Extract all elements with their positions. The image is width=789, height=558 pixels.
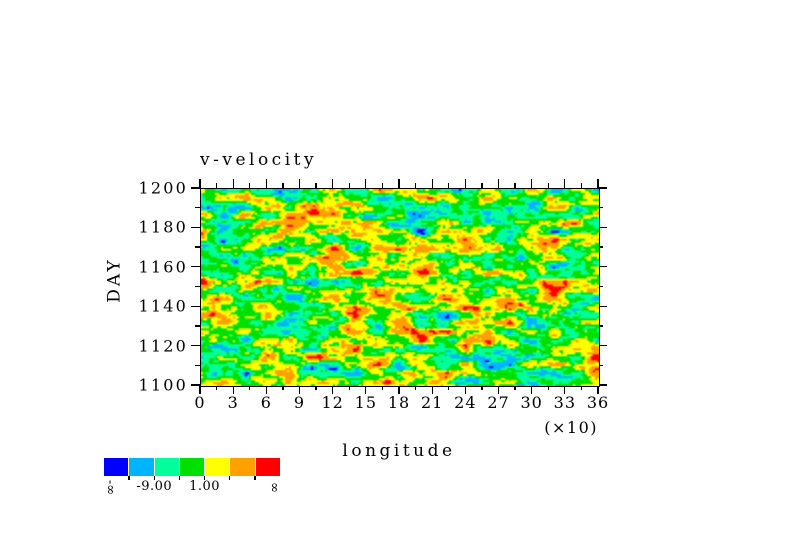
- y-tick-minor: [195, 246, 200, 247]
- colorbar-label-max: ∞: [267, 482, 282, 493]
- x-tick-minor: [349, 183, 350, 188]
- x-tick-minor: [448, 386, 449, 390]
- x-tick-minor: [249, 183, 250, 188]
- heatmap-plot-area: [200, 188, 600, 387]
- y-tick-minor: [195, 207, 200, 208]
- colorbar-label-min: -∞: [103, 480, 118, 495]
- x-tick-major: [398, 179, 399, 188]
- y-tick-minor: [195, 286, 200, 287]
- x-tick-minor: [481, 386, 482, 390]
- x-tick-label: 18: [388, 393, 410, 412]
- x-tick-label: 15: [355, 393, 377, 412]
- x-tick-minor: [514, 386, 515, 390]
- x-tick-label: 3: [228, 393, 239, 412]
- colorbar-band-0: [104, 458, 129, 476]
- x-tick-minor: [581, 386, 582, 390]
- x-tick-major: [365, 179, 366, 188]
- x-tick-major: [465, 179, 466, 188]
- y-tick-label: 1200: [138, 179, 188, 198]
- y-tick-major: [191, 306, 200, 307]
- x-tick-minor: [448, 183, 449, 188]
- x-tick-label: 33: [554, 393, 576, 412]
- x-tick-major: [531, 179, 532, 188]
- colorbar-label-value: 1.00: [189, 479, 220, 494]
- x-tick-label: 30: [520, 393, 542, 412]
- x-tick-minor: [382, 386, 383, 390]
- x-tick-label: 0: [194, 393, 205, 412]
- x-tick-major: [498, 179, 499, 188]
- x-axis-multiplier-label: (×10): [410, 418, 598, 437]
- x-tick-minor: [415, 386, 416, 390]
- y-tick-major: [191, 384, 200, 385]
- x-tick-minor: [548, 386, 549, 390]
- colorbar: [104, 458, 280, 476]
- colorbar-band-1: [129, 458, 154, 476]
- x-tick-label: 12: [321, 393, 343, 412]
- x-tick-label: 6: [261, 393, 272, 412]
- x-tick-major: [233, 179, 234, 188]
- x-tick-minor: [315, 183, 316, 188]
- y-tick-major: [191, 187, 200, 188]
- y-tick-major: [191, 345, 200, 346]
- y-tick-label: 1140: [138, 297, 188, 316]
- colorbar-label-value: -9.00: [136, 479, 172, 494]
- y-tick-major: [191, 227, 200, 228]
- colorbar-tick: [128, 476, 129, 480]
- colorbar-band-3: [180, 458, 205, 476]
- x-tick-minor: [282, 183, 283, 188]
- y-tick-major: [599, 266, 607, 267]
- x-tick-label: 21: [421, 393, 443, 412]
- x-tick-minor: [581, 183, 582, 188]
- y-tick-minor: [599, 365, 603, 366]
- x-tick-minor: [249, 386, 250, 390]
- y-tick-label: 1120: [138, 336, 188, 355]
- x-tick-label: 24: [454, 393, 476, 412]
- y-tick-label: 1100: [138, 376, 188, 395]
- x-tick-minor: [514, 183, 515, 188]
- y-tick-minor: [599, 207, 603, 208]
- y-tick-label: 1180: [138, 218, 188, 237]
- y-tick-major: [599, 227, 607, 228]
- x-tick-major: [299, 179, 300, 188]
- colorbar-bands: [104, 458, 280, 476]
- colorbar-band-2: [155, 458, 180, 476]
- y-tick-label: 1160: [138, 257, 188, 276]
- y-axis-title: DAY: [105, 257, 125, 302]
- x-tick-minor: [415, 183, 416, 188]
- x-tick-label: 36: [587, 393, 609, 412]
- y-tick-major: [599, 187, 607, 188]
- colorbar-band-5: [230, 458, 255, 476]
- heatmap-canvas: [201, 189, 599, 386]
- y-tick-major: [599, 306, 607, 307]
- y-tick-minor: [195, 325, 200, 326]
- y-tick-major: [191, 266, 200, 267]
- colorbar-band-6: [256, 458, 280, 476]
- y-tick-major: [599, 384, 607, 385]
- x-tick-minor: [315, 386, 316, 390]
- x-tick-major: [332, 179, 333, 188]
- y-tick-minor: [599, 286, 603, 287]
- x-tick-label: 9: [294, 393, 305, 412]
- x-tick-major: [564, 179, 565, 188]
- x-tick-minor: [382, 183, 383, 188]
- colorbar-tick: [229, 476, 230, 480]
- x-tick-label: 27: [487, 393, 509, 412]
- x-tick-major: [432, 179, 433, 188]
- colorbar-tick: [179, 476, 180, 480]
- x-tick-minor: [216, 183, 217, 188]
- page-title: v-velocity: [200, 150, 317, 170]
- x-tick-major: [266, 179, 267, 188]
- y-tick-minor: [599, 325, 603, 326]
- x-tick-minor: [548, 183, 549, 188]
- y-tick-major: [599, 345, 607, 346]
- x-tick-minor: [481, 183, 482, 188]
- x-tick-minor: [349, 386, 350, 390]
- y-tick-minor: [195, 365, 200, 366]
- colorbar-tick: [254, 476, 255, 480]
- x-tick-minor: [216, 386, 217, 390]
- y-tick-minor: [599, 246, 603, 247]
- x-tick-minor: [282, 386, 283, 390]
- colorbar-band-4: [205, 458, 230, 476]
